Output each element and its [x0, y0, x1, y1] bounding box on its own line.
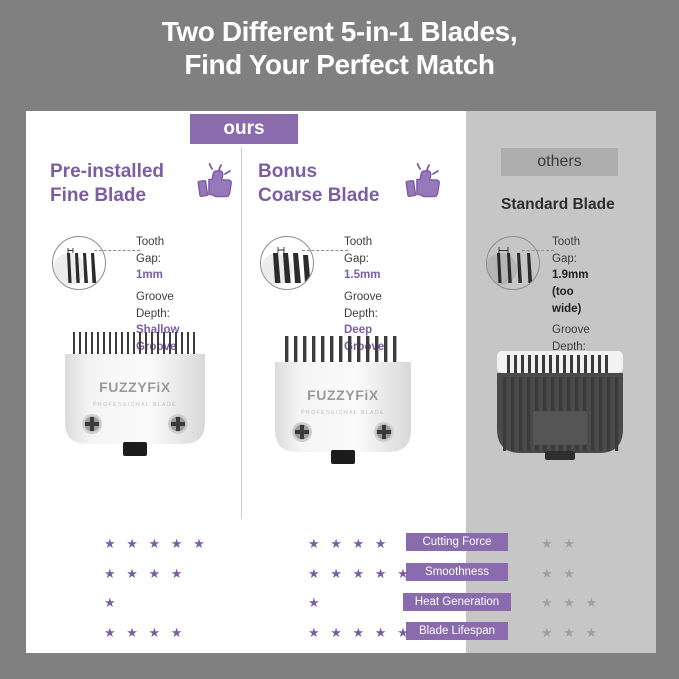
tooth-gap-label: Tooth Gap: — [552, 234, 592, 267]
stars-standard-cutting-force: ★ ★ — [541, 537, 578, 550]
blade-image-coarse: FUZZYFiX PROFESSIONAL BLADE — [263, 330, 423, 470]
svg-text:FUZZYFiX: FUZZYFiX — [99, 379, 171, 395]
blade-image-fine: FUZZYFiX PROFESSIONAL BLADE — [55, 330, 215, 460]
svg-text:PROFESSIONAL BLADE: PROFESSIONAL BLADE — [93, 402, 177, 408]
leader-line — [302, 250, 348, 251]
page-title: Two Different 5-in-1 Blades, Find Your P… — [0, 16, 679, 82]
column-title-line-2: Coarse Blade — [258, 184, 379, 208]
thumbs-up-icon — [404, 162, 444, 204]
stars-coarse-smoothness: ★ ★ ★ ★ ★ — [308, 567, 412, 580]
badge-ours: ours — [190, 114, 298, 144]
stars-fine-blade-lifespan: ★ ★ ★ ★ — [104, 626, 186, 639]
stars-standard-heat-generation: ★ ★ ★ — [541, 596, 601, 609]
rating-label-cutting-force: Cutting Force — [406, 533, 508, 551]
rating-label-blade-lifespan: Blade Lifespan — [406, 622, 508, 640]
thumbs-up-icon — [196, 162, 236, 204]
tooth-closeup-icon — [52, 236, 106, 290]
groove-depth-label: Groove Depth: — [344, 289, 384, 322]
tooth-gap-value: 1mm — [136, 267, 179, 284]
rating-label-heat-generation: Heat Generation — [403, 593, 511, 611]
leader-line — [522, 250, 554, 251]
stars-coarse-cutting-force: ★ ★ ★ ★ — [308, 537, 390, 550]
headline-line-1: Two Different 5-in-1 Blades, — [162, 16, 517, 47]
column-title-line-1: Pre-installed — [50, 160, 164, 184]
stars-fine-smoothness: ★ ★ ★ ★ — [104, 567, 186, 580]
stars-standard-blade-lifespan: ★ ★ ★ — [541, 626, 601, 639]
blade-image-standard — [489, 337, 631, 470]
rating-label-smoothness: Smoothness — [406, 563, 508, 581]
column-title-line-1: Bonus — [258, 160, 379, 184]
groove-depth-label: Groove Depth: — [136, 289, 179, 322]
headline-line-2: Find Your Perfect Match — [0, 49, 679, 82]
column-title-coarse-blade: Bonus Coarse Blade — [258, 160, 379, 209]
tooth-gap-label: Tooth Gap: — [344, 234, 384, 267]
column-title-standard-blade: Standard Blade — [501, 195, 615, 215]
leader-line — [94, 250, 140, 251]
stars-fine-heat-generation: ★ — [104, 596, 119, 609]
tooth-closeup-icon — [260, 236, 314, 290]
column-divider — [241, 147, 242, 519]
comparison-infographic: Two Different 5-in-1 Blades, Find Your P… — [0, 0, 679, 679]
tooth-gap-value: 1.9mm (too wide) — [552, 267, 592, 317]
badge-others: others — [501, 148, 618, 176]
column-title-line-2: Fine Blade — [50, 184, 164, 208]
stars-coarse-blade-lifespan: ★ ★ ★ ★ ★ — [308, 626, 412, 639]
tooth-closeup-icon — [486, 236, 540, 290]
stars-standard-smoothness: ★ ★ — [541, 567, 578, 580]
svg-text:FUZZYFiX: FUZZYFiX — [307, 387, 379, 403]
tooth-gap-value: 1.5mm — [344, 267, 384, 284]
stars-coarse-heat-generation: ★ — [308, 596, 323, 609]
tooth-gap-label: Tooth Gap: — [136, 234, 179, 267]
column-title-fine-blade: Pre-installed Fine Blade — [50, 160, 164, 209]
svg-text:PROFESSIONAL BLADE: PROFESSIONAL BLADE — [301, 410, 385, 416]
stars-fine-cutting-force: ★ ★ ★ ★ ★ — [104, 537, 208, 550]
